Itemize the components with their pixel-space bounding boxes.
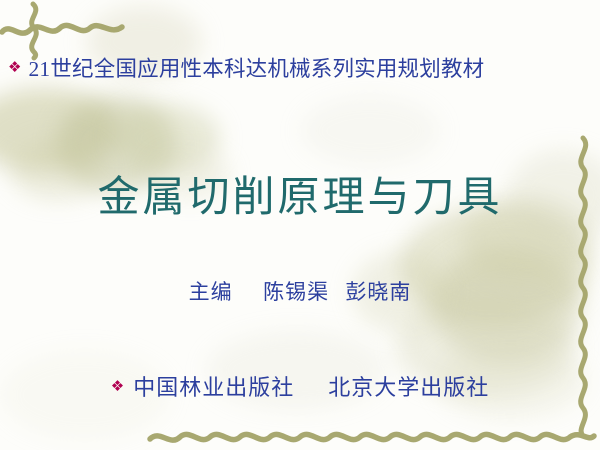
ribbon-horizontal-bottom-icon [148,424,596,450]
book-title: 金属切削原理与刀具 [0,163,600,224]
publisher-name-first: 中国林业出版社 [133,370,294,402]
editor-line: 主编 陈锡渠 彭晓南 [0,276,600,306]
diamond-bullet-icon: ❖ [8,60,21,75]
watermark-blob-upper-left [112,104,220,172]
editor-name-first: 陈锡渠 [263,280,329,304]
diamond-bullet-icon: ❖ [111,379,124,394]
ribbon-horizontal-top-left-icon [0,14,125,44]
presentation-slide: ❖ 21世纪全国应用性本科达机械系列实用规划教材 金属切削原理与刀具 主编 陈锡… [0,0,600,450]
watermark-blob-mid [300,96,440,166]
publisher-name-second: 北京大学出版社 [328,370,489,402]
series-line: ❖ 21世纪全国应用性本科达机械系列实用规划教材 [8,52,484,83]
watermark-blob-right [400,206,590,326]
editor-role-label: 主编 [189,280,233,304]
publisher-line: ❖ 中国林业出版社 北京大学出版社 [0,370,600,402]
editor-name-second: 彭晓南 [345,280,411,304]
series-title-text: 21世纪全国应用性本科达机械系列实用规划教材 [28,52,484,83]
watermark-blob-upper-left [0,88,120,172]
